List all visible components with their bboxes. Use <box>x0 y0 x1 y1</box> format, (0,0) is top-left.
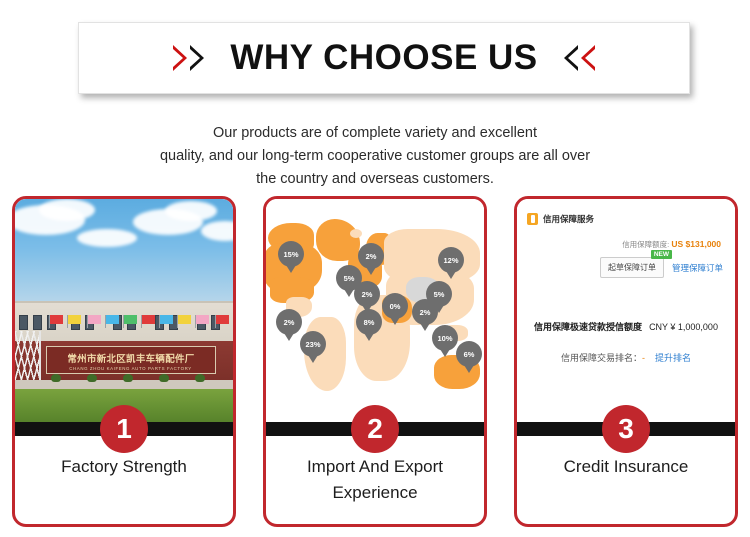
intro-description: Our products are of complete variety and… <box>0 122 750 191</box>
card-number-badge: 3 <box>602 405 650 453</box>
chevron-left-red-icon <box>581 45 595 71</box>
card-number-badge: 1 <box>100 405 148 453</box>
map-pin: 2% <box>354 281 380 307</box>
page-root: WHY CHOOSE US Our products are of comple… <box>0 0 750 537</box>
card-factory-strength[interactable]: 常州市新北区凯丰车辆配件厂 CHANG ZHOU KAIFENG AUTO PA… <box>12 196 236 527</box>
card-label-import-export: Import And Export Experience <box>266 454 484 506</box>
credit-insurance-screenshot: 信用保障服务 信用保障额度: US $131,000 NEW 起草保障订单 管理… <box>517 199 735 431</box>
draft-order-button[interactable]: 起草保障订单 <box>600 257 664 278</box>
factory-gate <box>15 331 41 382</box>
card-label-line-2: Experience <box>274 480 476 506</box>
feature-cards: 常州市新北区凯丰车辆配件厂 CHANG ZHOU KAIFENG AUTO PA… <box>0 196 750 529</box>
signboard-chinese-text: 常州市新北区凯丰车辆配件厂 <box>67 350 194 364</box>
landmass-iceland <box>350 229 362 238</box>
credit-amount-row: 信用保障额度: US $131,000 <box>527 239 725 250</box>
map-pin: 2% <box>412 299 438 325</box>
chevron-right-black-icon <box>190 45 204 71</box>
signboard-english-text: CHANG ZHOU KAIFENG AUTO PARTS FACTORY <box>69 366 192 371</box>
map-pin: 8% <box>356 309 382 335</box>
new-badge: NEW <box>651 250 672 259</box>
page-title: WHY CHOOSE US <box>230 38 537 78</box>
credit-service-title: 信用保障服务 <box>543 213 594 225</box>
map-pin: 15% <box>278 241 304 267</box>
card-credit-insurance[interactable]: 信用保障服务 信用保障额度: US $131,000 NEW 起草保障订单 管理… <box>514 196 738 527</box>
credit-action-row: NEW 起草保障订单 管理保障订单 <box>527 257 725 278</box>
description-line-3: the country and overseas customers. <box>0 168 750 191</box>
cloud <box>165 201 217 221</box>
world-map-graphic: 15% 2% 23% 2% 5% 2% 8% 0% 12% 5% 2% 10% … <box>266 199 484 431</box>
credit-line-value: CNY ¥ 1,000,000 <box>649 322 718 332</box>
why-choose-us-banner: WHY CHOOSE US <box>78 22 690 94</box>
credit-line-row: 信用保障极速贷款授信额度 CNY ¥ 1,000,000 <box>527 320 725 333</box>
cloud <box>77 229 137 247</box>
left-chevrons <box>173 45 204 71</box>
map-pin: 2% <box>358 243 384 269</box>
credit-rank-value: - <box>642 353 645 363</box>
map-pin: 10% <box>432 325 458 351</box>
map-pin: 12% <box>438 247 464 273</box>
map-pin: 2% <box>276 309 302 335</box>
improve-rank-link[interactable]: 提升排名 <box>655 351 691 364</box>
chevron-left-black-icon <box>564 45 578 71</box>
factory-photo: 常州市新北区凯丰车辆配件厂 CHANG ZHOU KAIFENG AUTO PA… <box>15 199 233 431</box>
card-label-line-1: Import And Export <box>274 454 476 480</box>
right-chevrons <box>564 45 595 71</box>
credit-service-header: 信用保障服务 <box>527 213 725 225</box>
factory-signboard: 常州市新北区凯丰车辆配件厂 CHANG ZHOU KAIFENG AUTO PA… <box>46 346 216 374</box>
card-number-badge: 2 <box>351 405 399 453</box>
credit-rank-row: 信用保障交易排名：- 提升排名 <box>527 351 725 364</box>
description-line-1: Our products are of complete variety and… <box>0 122 750 145</box>
card-label-factory-strength: Factory Strength <box>15 454 233 480</box>
credit-amount-value: US $131,000 <box>671 239 721 249</box>
card-label-credit-insurance: Credit Insurance <box>517 454 735 480</box>
credit-insurance-panel: 信用保障服务 信用保障额度: US $131,000 NEW 起草保障订单 管理… <box>517 199 735 431</box>
card-import-export-experience[interactable]: 15% 2% 23% 2% 5% 2% 8% 0% 12% 5% 2% 10% … <box>263 196 487 527</box>
map-pin: 0% <box>382 293 408 319</box>
coin-icon <box>527 213 538 225</box>
map-pin: 23% <box>300 331 326 357</box>
factory-photo-scene: 常州市新北区凯丰车辆配件厂 CHANG ZHOU KAIFENG AUTO PA… <box>15 199 233 431</box>
map-pin: 6% <box>456 341 482 367</box>
credit-amount-label: 信用保障额度: <box>622 240 669 249</box>
world-map: 15% 2% 23% 2% 5% 2% 8% 0% 12% 5% 2% 10% … <box>266 199 484 431</box>
manage-order-link[interactable]: 管理保障订单 <box>672 262 723 274</box>
chevron-right-red-icon <box>173 45 187 71</box>
credit-rank-label: 信用保障交易排名：- <box>561 351 645 364</box>
description-line-2: quality, and our long-term cooperative c… <box>0 145 750 168</box>
credit-line-label: 信用保障极速贷款授信额度 <box>534 320 642 333</box>
cloud <box>39 199 95 221</box>
